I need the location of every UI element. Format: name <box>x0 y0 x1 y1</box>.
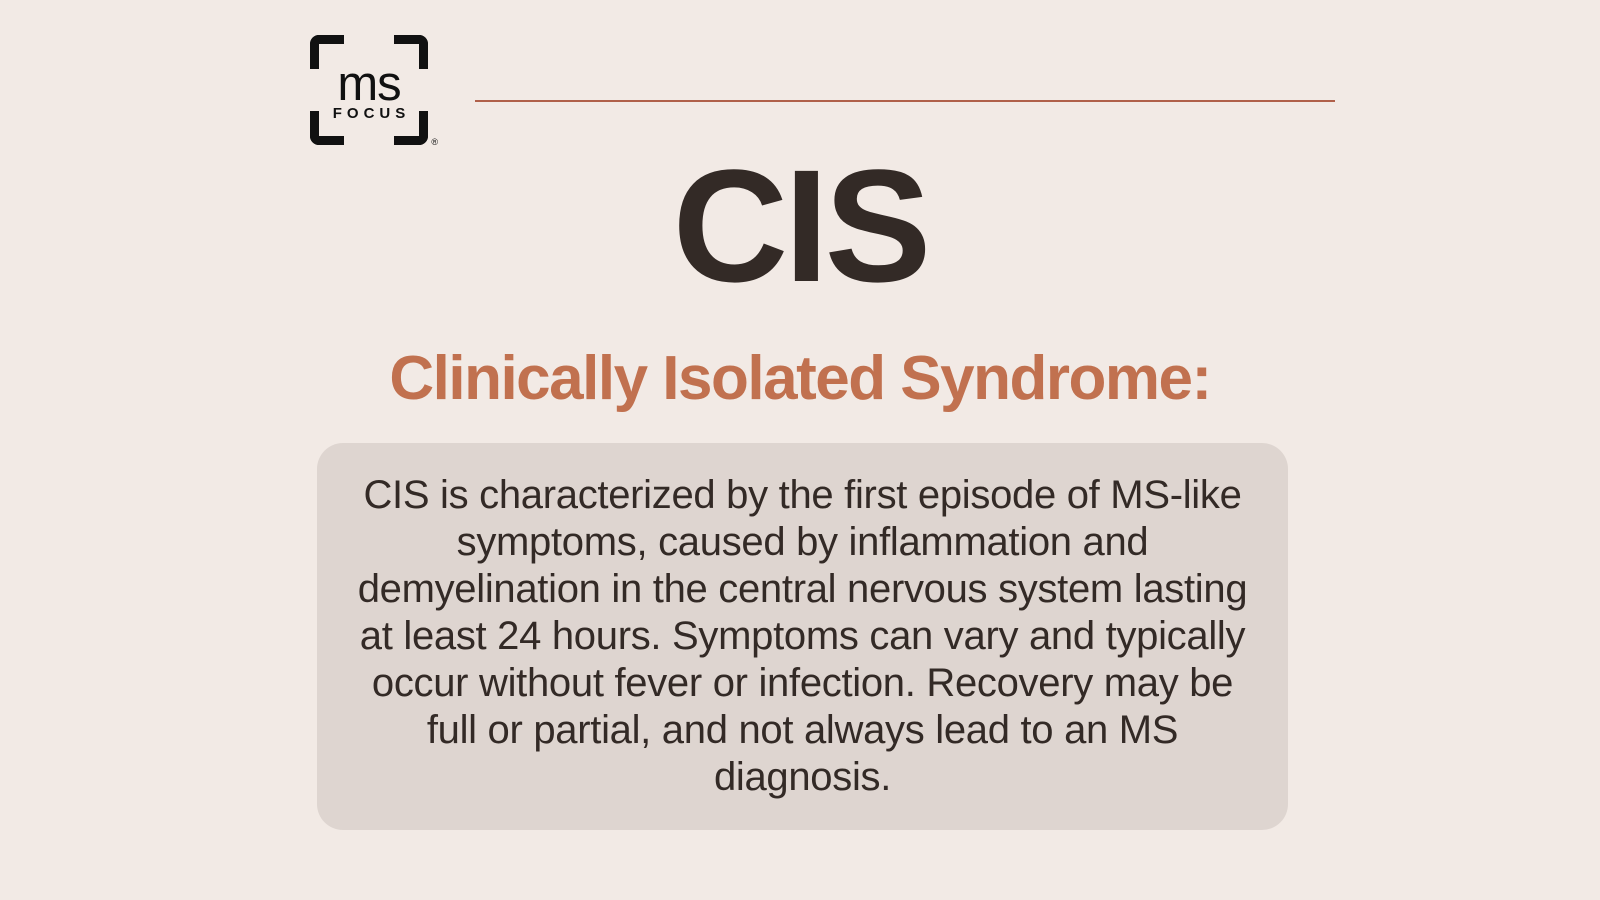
header: ms FOCUS ® <box>310 30 1340 150</box>
logo-primary-text: ms <box>310 62 428 106</box>
header-divider-rule <box>475 100 1335 102</box>
ms-focus-logo: ms FOCUS ® <box>310 35 428 145</box>
logo-secondary-text: FOCUS <box>310 106 428 122</box>
page-title: CIS <box>0 146 1600 306</box>
definition-body-text: CIS is characterized by the first episod… <box>345 472 1260 801</box>
infographic-page: ms FOCUS ® CIS Clinically Isolated Syndr… <box>0 0 1600 900</box>
page-subtitle: Clinically Isolated Syndrome: <box>0 338 1600 420</box>
definition-card: CIS is characterized by the first episod… <box>317 443 1288 830</box>
